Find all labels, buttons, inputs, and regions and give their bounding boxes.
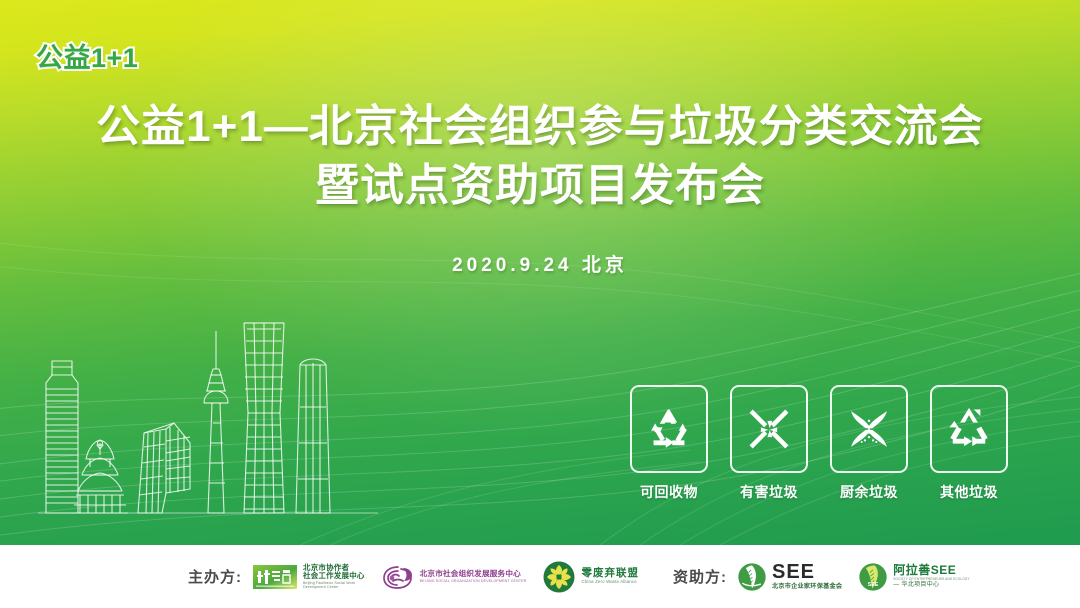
recycle-triangle-icon bbox=[643, 403, 695, 455]
waste-category-row: 可回收物 bbox=[630, 385, 1008, 502]
skyline-office-tower bbox=[46, 361, 78, 513]
sponsor-logo-alxa-see: SEE 阿拉善SEE SOCIETY OF ENTREPRENEURS AND … bbox=[858, 562, 969, 592]
organizer-name-en-line1: China Zero Waste Alliance bbox=[581, 580, 639, 585]
event-date-location: 2020.9.24 北京 bbox=[0, 250, 1080, 277]
see-foundation-logo-icon bbox=[737, 562, 767, 592]
organizer-name-cn-line1: 北京市社会组织发展服务中心 bbox=[420, 570, 527, 579]
skyline-cctv-building bbox=[138, 423, 190, 513]
waste-category-item: 有害垃圾 bbox=[730, 385, 808, 502]
waste-category-label: 厨余垃圾 bbox=[830, 482, 908, 502]
waste-category-item: 可回收物 bbox=[630, 385, 708, 502]
svg-text:SEE: SEE bbox=[868, 581, 879, 587]
alxa-see-logo-icon: SEE bbox=[858, 562, 888, 592]
poster-screenshot: 公益1+1 公益1+1—北京社会组织参与垃圾分类交流会 暨试点资助项目发布会 2… bbox=[0, 0, 1080, 608]
brand-logo: 公益1+1 bbox=[36, 36, 138, 75]
waste-category-label: 可回收物 bbox=[630, 482, 708, 502]
sponsor-caption: 资助方: bbox=[673, 566, 727, 587]
organizer-name-cn-line2: 社会工作发展中心 bbox=[303, 572, 365, 580]
kitchen-waste-hourglass-icon bbox=[843, 403, 895, 455]
sponsor-logo-see-foundation: SEE 北京市企业家环保基金会 bbox=[737, 562, 842, 592]
hazardous-arrows-icon bbox=[743, 403, 795, 455]
organizer-logo-strip: 北京市协作者 社会工作发展中心 Beijing Facilitator Soci… bbox=[252, 560, 639, 594]
zero-waste-flower-logo-icon bbox=[542, 560, 576, 594]
poster-background: 公益1+1 公益1+1—北京社会组织参与垃圾分类交流会 暨试点资助项目发布会 2… bbox=[0, 0, 1080, 545]
bsodc-logo-icon bbox=[381, 563, 415, 591]
organizer-name-en-line2: Development Center bbox=[303, 585, 365, 589]
title-line-1: 公益1+1—北京社会组织参与垃圾分类交流会 bbox=[0, 98, 1080, 157]
skyline-tv-tower bbox=[204, 331, 228, 513]
organizer-logo-zero-waste: 零废弃联盟 China Zero Waste Alliance bbox=[542, 560, 639, 594]
sponsor-name-cn: — 华北项目中心 bbox=[893, 582, 969, 589]
waste-category-label: 有害垃圾 bbox=[730, 482, 808, 502]
sponsor-name-cn: 北京市企业家环保基金会 bbox=[772, 584, 842, 591]
sponsor-wordmark: SEE bbox=[772, 562, 815, 582]
poster-title: 公益1+1—北京社会组织参与垃圾分类交流会 暨试点资助项目发布会 bbox=[0, 98, 1080, 216]
title-line-2: 暨试点资助项目发布会 bbox=[0, 157, 1080, 216]
sponsor-wordmark: 阿拉善SEE bbox=[893, 564, 969, 577]
waste-category-item: 其他垃圾 bbox=[930, 385, 1008, 502]
organizer-name-en-line1: BEIJING SOCIAL ORGANIZATION DEVELOPMENT … bbox=[420, 579, 527, 583]
beijing-skyline-illustration bbox=[38, 283, 418, 533]
organizer-caption: 主办方: bbox=[188, 566, 242, 587]
facilitator-logo-icon bbox=[252, 562, 298, 592]
skyline-temple-of-heaven bbox=[72, 440, 128, 513]
footer-bar: 主办方: bbox=[0, 545, 1080, 608]
waste-icon-box bbox=[930, 385, 1008, 473]
sponsor-name-en: SOCIETY OF ENTREPRENEURS AND ECOLOGY bbox=[893, 578, 969, 582]
waste-icon-box bbox=[830, 385, 908, 473]
organizer-logo-bsodc: 北京市社会组织发展服务中心 BEIJING SOCIAL ORGANIZATIO… bbox=[381, 563, 527, 591]
waste-category-label: 其他垃圾 bbox=[930, 482, 1008, 502]
other-waste-recycle-icon bbox=[943, 403, 995, 455]
sponsor-logo-strip: SEE 北京市企业家环保基金会 SEE 阿拉善SE bbox=[737, 562, 970, 592]
waste-icon-box bbox=[730, 385, 808, 473]
skyline-china-zun-tower bbox=[244, 323, 284, 513]
organizer-logo-facilitator: 北京市协作者 社会工作发展中心 Beijing Facilitator Soci… bbox=[252, 562, 365, 592]
waste-category-item: 厨余垃圾 bbox=[830, 385, 908, 502]
skyline-right-tower bbox=[296, 359, 330, 513]
waste-icon-box bbox=[630, 385, 708, 473]
